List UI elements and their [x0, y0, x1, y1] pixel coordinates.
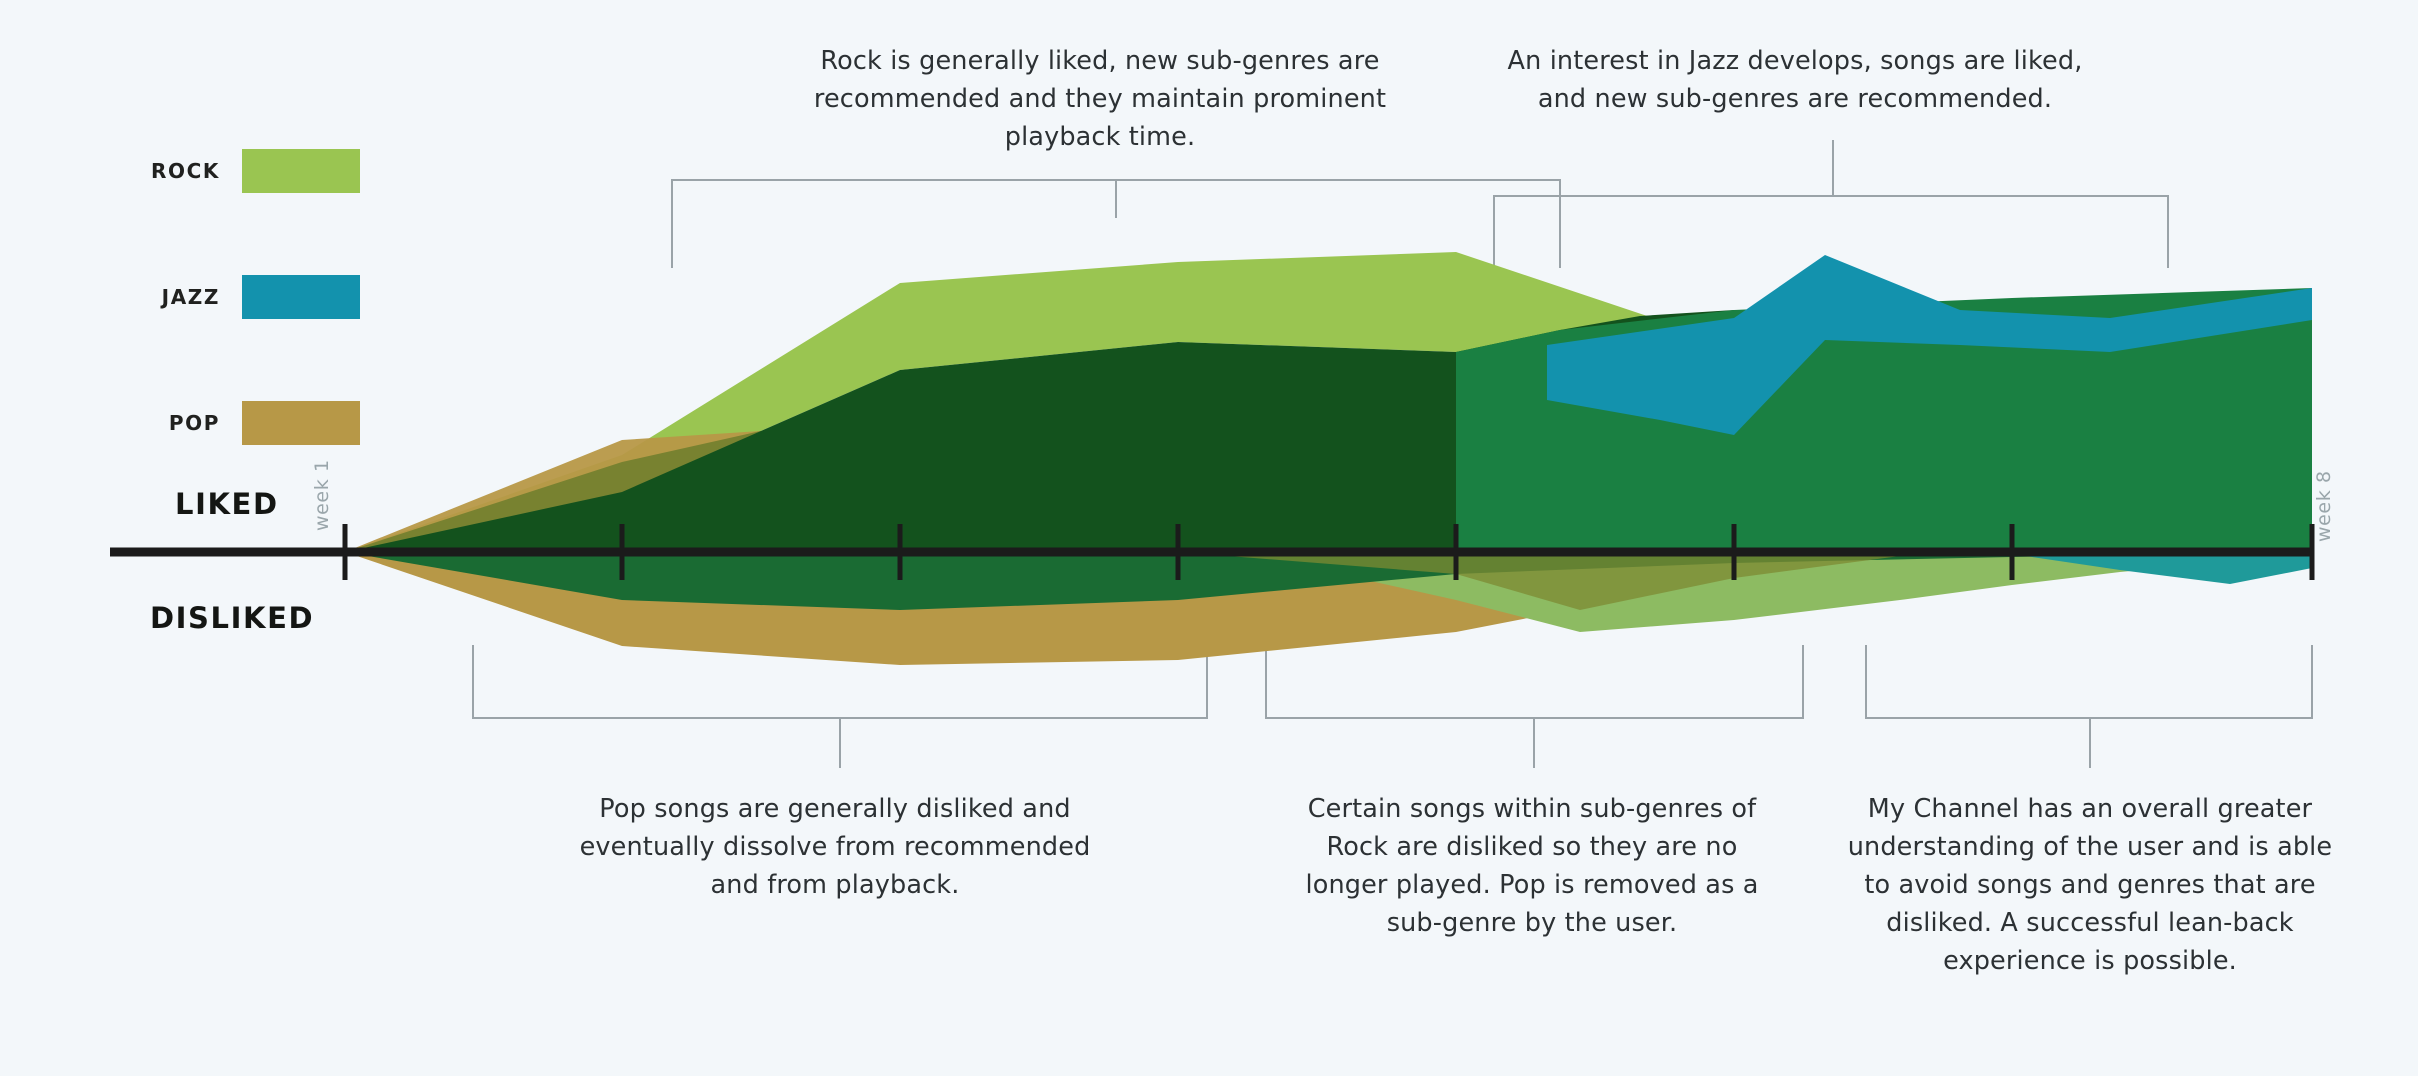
stream-graph	[0, 0, 2418, 1076]
chart-canvas: ROCK JAZZ POP LIKED DISLIKED week 1 week…	[0, 0, 2418, 1076]
bracket-rock-bottom	[1266, 645, 1803, 718]
stream-bands	[345, 252, 2312, 665]
bracket-jazz-top	[1494, 196, 2168, 268]
bracket-summary-bottom	[1866, 645, 2312, 718]
